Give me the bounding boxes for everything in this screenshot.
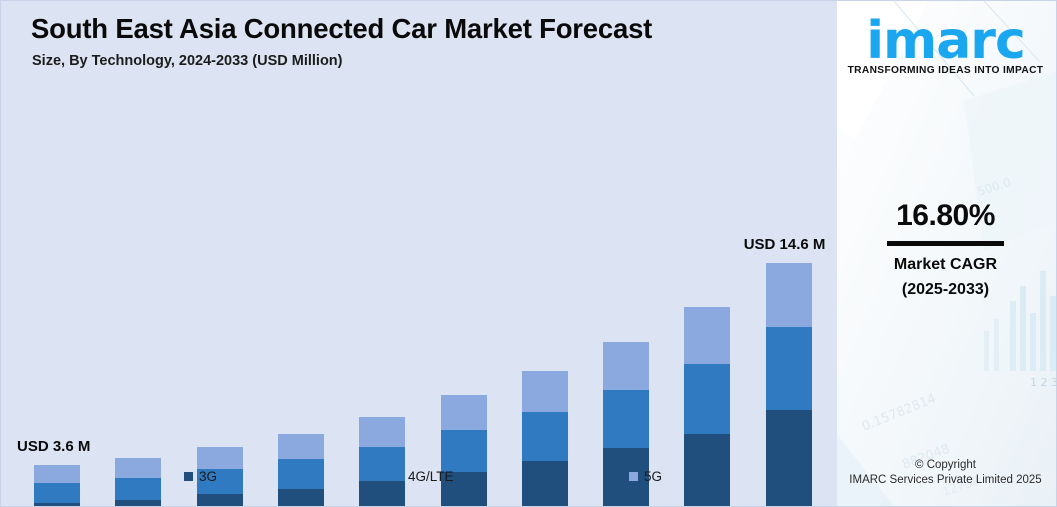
copyright-line-1: © Copyright bbox=[834, 459, 1057, 471]
legend-item-5g[interactable]: 5G bbox=[629, 469, 662, 484]
imarc-wordmark: imarc bbox=[834, 13, 1057, 69]
cagr-value: 16.80% bbox=[834, 199, 1057, 233]
svg-text:1 2 3 4: 1 2 3 4 bbox=[1030, 376, 1057, 389]
bar-segment-5g bbox=[522, 371, 568, 411]
bar-segment-5g bbox=[359, 417, 405, 446]
bar-segment-3g bbox=[34, 503, 80, 507]
bar-segment-5g bbox=[441, 395, 487, 430]
brand-panel: 1 2 3 4 500.0 0.15782814 882048 12768 im… bbox=[834, 1, 1057, 506]
value-label-2033: USD 14.6 M bbox=[744, 236, 826, 253]
bar-segment-5g bbox=[197, 447, 243, 469]
cagr-divider bbox=[887, 241, 1004, 246]
bar-segment-3g bbox=[115, 500, 161, 507]
bar-segment-4g-lte bbox=[766, 327, 812, 410]
chart-panel: South East Asia Connected Car Market For… bbox=[1, 1, 834, 506]
bar-segment-3g bbox=[197, 494, 243, 507]
legend-label: 4G/LTE bbox=[408, 469, 454, 484]
copyright-line-2: IMARC Services Private Limited 2025 bbox=[834, 474, 1057, 486]
bar-chart-plot: USD 3.6 MUSD 14.6 M 20242025202620272028… bbox=[1, 101, 834, 433]
page-title: South East Asia Connected Car Market For… bbox=[31, 13, 652, 45]
cagr-period: (2025-2033) bbox=[834, 281, 1057, 299]
legend-swatch-icon bbox=[629, 472, 638, 481]
bar-segment-5g bbox=[766, 263, 812, 327]
legend-swatch-icon bbox=[184, 472, 193, 481]
bar-segment-5g bbox=[603, 342, 649, 390]
legend-swatch-icon bbox=[393, 472, 402, 481]
value-label-2024: USD 3.6 M bbox=[17, 438, 90, 455]
chart-legend: 3G4G/LTE5G bbox=[1, 469, 834, 495]
legend-label: 3G bbox=[199, 469, 217, 484]
bar-segment-4g-lte bbox=[441, 430, 487, 472]
bar-segment-5g bbox=[684, 307, 730, 364]
bar-segment-4g-lte bbox=[684, 364, 730, 434]
infographic-root: South East Asia Connected Car Market For… bbox=[0, 0, 1057, 507]
page-subtitle: Size, By Technology, 2024-2033 (USD Mill… bbox=[32, 53, 342, 69]
cagr-label: Market CAGR bbox=[834, 256, 1057, 274]
legend-label: 5G bbox=[644, 469, 662, 484]
bar-segment-4g-lte bbox=[522, 412, 568, 462]
imarc-logo: imarc TRANSFORMING IDEAS INTO IMPACT bbox=[834, 13, 1057, 95]
bar-segment-4g-lte bbox=[603, 390, 649, 449]
legend-item-3g[interactable]: 3G bbox=[184, 469, 217, 484]
imarc-tagline: TRANSFORMING IDEAS INTO IMPACT bbox=[834, 65, 1057, 76]
bar-segment-5g bbox=[278, 434, 324, 460]
legend-item-4g-lte[interactable]: 4G/LTE bbox=[393, 469, 454, 484]
